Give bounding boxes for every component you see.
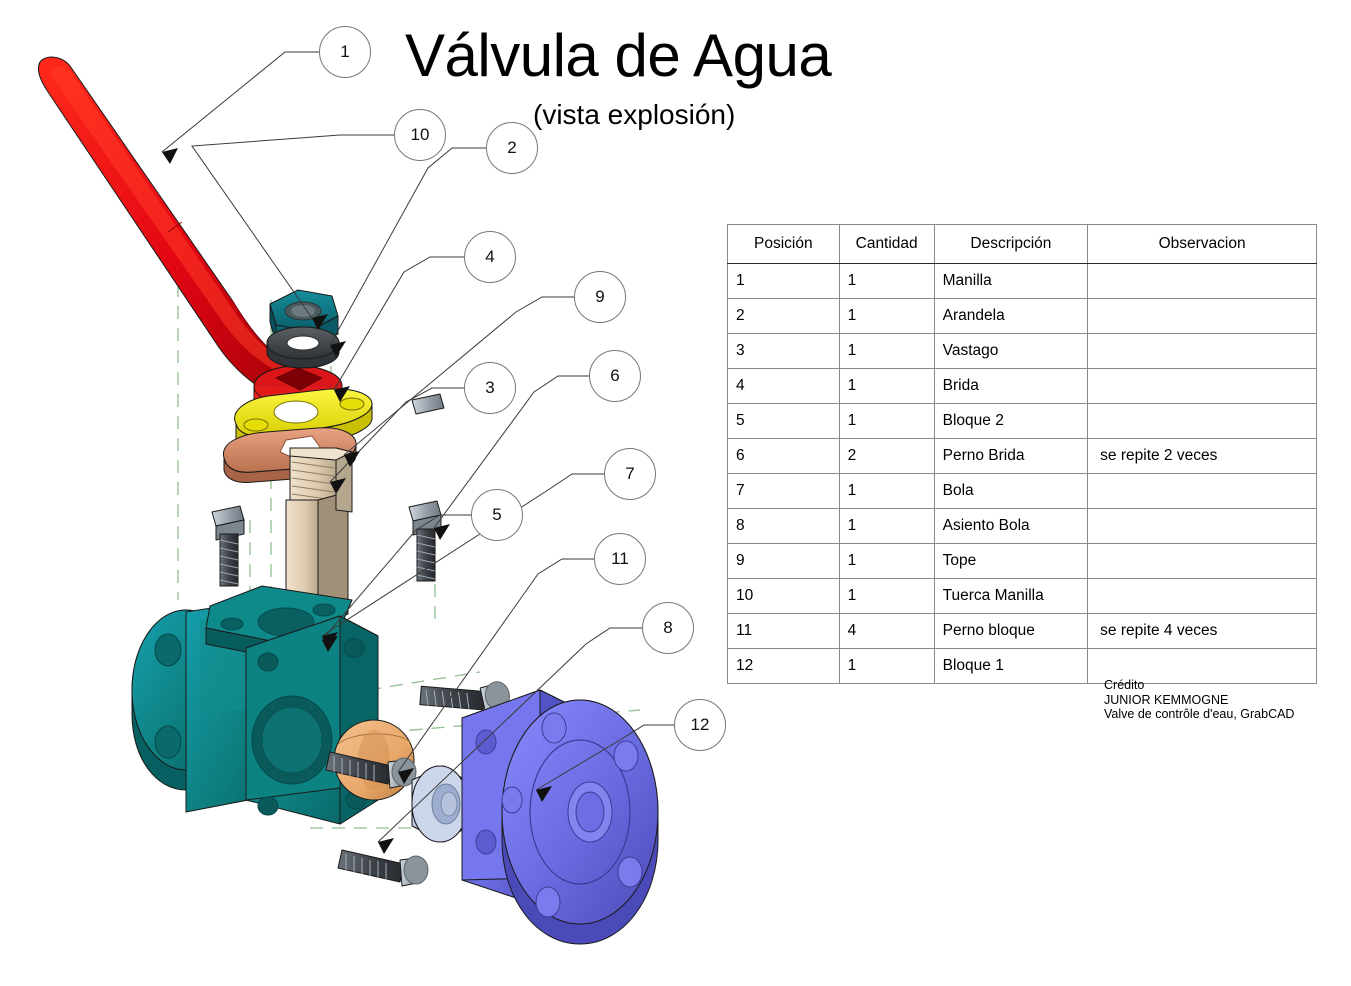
part-washer (267, 327, 339, 368)
cell-posicion: 9 (728, 544, 840, 579)
balloon-label: 9 (595, 287, 604, 307)
cell-cantidad: 1 (839, 369, 934, 404)
cell-observacion (1088, 264, 1317, 299)
balloon-label: 7 (625, 464, 634, 484)
part-seat (412, 766, 468, 842)
table-row: 11Manilla (728, 264, 1317, 299)
cell-observacion: se repite 4 veces (1088, 614, 1317, 649)
part-block-blue (462, 690, 658, 944)
cell-posicion: 3 (728, 334, 840, 369)
table-row: 51Bloque 2 (728, 404, 1317, 439)
cell-posicion: 2 (728, 299, 840, 334)
credit-block: Crédito JUNIOR KEMMOGNE Valve de contrôl… (1104, 678, 1294, 722)
cell-posicion: 12 (728, 649, 840, 684)
balloon-label: 12 (691, 715, 710, 735)
cell-observacion: se repite 2 veces (1088, 439, 1317, 474)
cell-posicion: 11 (728, 614, 840, 649)
cell-observacion (1088, 509, 1317, 544)
table-row: 31Vastago (728, 334, 1317, 369)
cell-descripcion: Vastago (934, 334, 1088, 369)
drawing-sheet: 110249367511812 Válvula de Agua (vista e… (0, 0, 1351, 986)
cell-cantidad: 1 (839, 474, 934, 509)
cell-cantidad: 1 (839, 299, 934, 334)
cell-descripcion: Bloque 2 (934, 404, 1088, 439)
table-row: 71Bola (728, 474, 1317, 509)
balloon-label: 11 (611, 549, 629, 569)
balloon-callout-3[interactable]: 3 (464, 362, 516, 414)
cell-cantidad: 1 (839, 334, 934, 369)
balloon-label: 10 (411, 125, 430, 145)
cell-descripcion: Perno Brida (934, 439, 1088, 474)
cell-descripcion: Bola (934, 474, 1088, 509)
balloon-callout-9[interactable]: 9 (574, 271, 626, 323)
balloon-label: 4 (485, 247, 494, 267)
cell-descripcion: Bloque 1 (934, 649, 1088, 684)
part-body-teal (132, 586, 378, 824)
cell-posicion: 5 (728, 404, 840, 439)
cell-cantidad: 1 (839, 579, 934, 614)
cell-cantidad: 1 (839, 264, 934, 299)
cell-descripcion: Asiento Bola (934, 509, 1088, 544)
balloon-callout-4[interactable]: 4 (464, 231, 516, 283)
table-row: 41Brida (728, 369, 1317, 404)
table-row: 62Perno Bridase repite 2 veces (728, 439, 1317, 474)
cell-descripcion: Perno bloque (934, 614, 1088, 649)
balloon-callout-8[interactable]: 8 (642, 602, 694, 654)
cell-descripcion: Arandela (934, 299, 1088, 334)
table-row: 81Asiento Bola (728, 509, 1317, 544)
cell-posicion: 4 (728, 369, 840, 404)
cell-cantidad: 2 (839, 439, 934, 474)
cell-observacion (1088, 474, 1317, 509)
credit-line-3: Valve de contrôle d'eau, GrabCAD (1104, 707, 1294, 722)
cell-cantidad: 1 (839, 509, 934, 544)
cell-posicion: 10 (728, 579, 840, 614)
cell-descripcion: Tope (934, 544, 1088, 579)
cell-posicion: 7 (728, 474, 840, 509)
balloon-callout-10[interactable]: 10 (394, 109, 446, 161)
cell-observacion (1088, 544, 1317, 579)
balloon-callout-2[interactable]: 2 (486, 122, 538, 174)
column-header-observacion: Observacion (1088, 225, 1317, 264)
cell-observacion (1088, 299, 1317, 334)
cell-descripcion: Tuerca Manilla (934, 579, 1088, 614)
cell-posicion: 8 (728, 509, 840, 544)
balloon-label: 3 (485, 378, 494, 398)
cell-observacion (1088, 334, 1317, 369)
cell-cantidad: 1 (839, 649, 934, 684)
column-header-posicion: Posición (728, 225, 840, 264)
balloon-label: 1 (340, 42, 349, 62)
balloon-label: 6 (610, 366, 619, 386)
balloon-callout-1[interactable]: 1 (319, 26, 371, 78)
table-row: 101Tuerca Manilla (728, 579, 1317, 614)
balloon-label: 2 (507, 138, 516, 158)
table-header-row: Posición Cantidad Descripción Observacio… (728, 225, 1317, 264)
parts-list-table: Posición Cantidad Descripción Observacio… (727, 224, 1317, 684)
page-title: Válvula de Agua (405, 24, 831, 88)
balloon-callout-6[interactable]: 6 (589, 350, 641, 402)
balloon-callout-7[interactable]: 7 (604, 448, 656, 500)
balloon-callout-5[interactable]: 5 (471, 489, 523, 541)
balloon-label: 5 (492, 505, 501, 525)
cell-observacion (1088, 404, 1317, 439)
credit-line-1: Crédito (1104, 678, 1294, 693)
table-row: 21Arandela (728, 299, 1317, 334)
cell-observacion (1088, 579, 1317, 614)
cell-cantidad: 1 (839, 544, 934, 579)
part-handle (38, 57, 342, 428)
table-row: 91Tope (728, 544, 1317, 579)
balloon-callout-12[interactable]: 12 (674, 699, 726, 751)
cell-cantidad: 1 (839, 404, 934, 439)
cell-descripcion: Manilla (934, 264, 1088, 299)
balloon-label: 8 (663, 618, 672, 638)
cell-cantidad: 4 (839, 614, 934, 649)
balloon-callout-11[interactable]: 11 (594, 533, 646, 585)
cell-posicion: 6 (728, 439, 840, 474)
column-header-descripcion: Descripción (934, 225, 1088, 264)
cell-observacion (1088, 369, 1317, 404)
cell-posicion: 1 (728, 264, 840, 299)
credit-line-2: JUNIOR KEMMOGNE (1104, 693, 1294, 708)
table-row: 114Perno bloquese repite 4 veces (728, 614, 1317, 649)
cell-descripcion: Brida (934, 369, 1088, 404)
page-subtitle: (vista explosión) (533, 99, 735, 131)
column-header-cantidad: Cantidad (839, 225, 934, 264)
